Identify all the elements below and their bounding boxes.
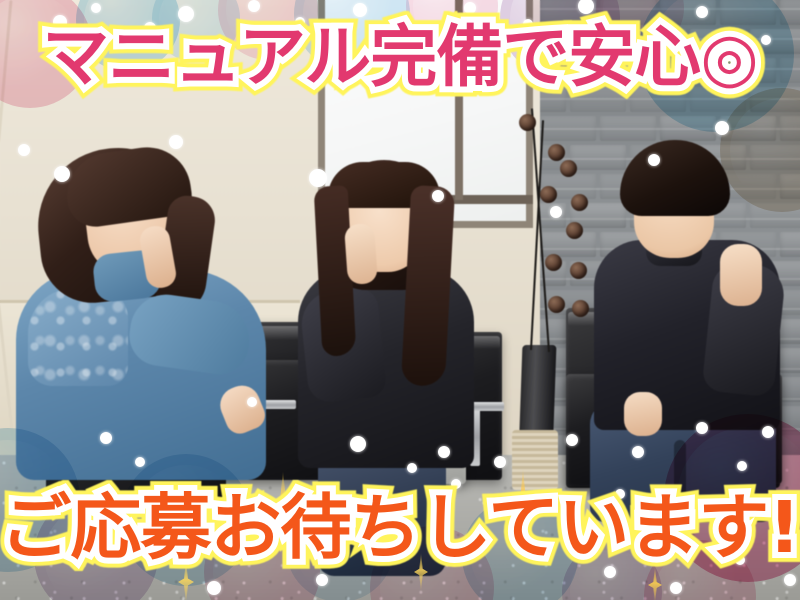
headline-text: マニュアル完備で安心◎ xyxy=(42,24,757,91)
footline-text: ご応募お待ちしています! xyxy=(0,492,799,563)
text-overlay: マニュアル完備で安心◎ マニュアル完備で安心◎ マニュアル完備で安心◎ ご応募お… xyxy=(0,0,800,600)
footline: ご応募お待ちしています! ご応募お待ちしています! ご応募お待ちしています! xyxy=(0,492,800,563)
headline-stack: マニュアル完備で安心◎ マニュアル完備で安心◎ マニュアル完備で安心◎ xyxy=(42,24,757,91)
recruitment-poster: マニュアル完備で安心◎ マニュアル完備で安心◎ マニュアル完備で安心◎ ご応募お… xyxy=(0,0,800,600)
headline: マニュアル完備で安心◎ マニュアル完備で安心◎ マニュアル完備で安心◎ xyxy=(0,24,800,91)
footline-stack: ご応募お待ちしています! ご応募お待ちしています! ご応募お待ちしています! xyxy=(0,492,799,563)
